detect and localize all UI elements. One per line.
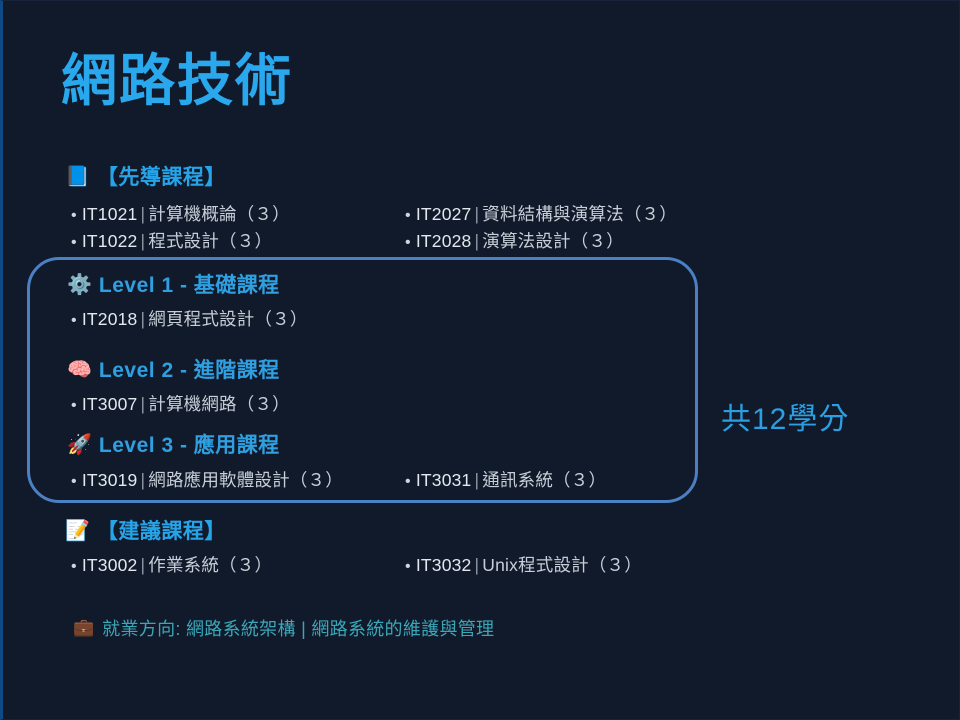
course-item: •IT3019|網路應用軟體設計（３） <box>71 467 343 492</box>
page-title: 網路技術 <box>61 49 293 113</box>
course-item: •IT3031|通訊系統（３） <box>405 467 606 492</box>
bullet-icon: • <box>405 558 411 575</box>
course-name: 資料結構與演算法（３） <box>482 204 677 224</box>
course-item: •IT3032|Unix程式設計（３） <box>405 552 642 577</box>
course-item: •IT2028|演算法設計（３） <box>405 228 624 253</box>
bullet-icon: • <box>71 473 77 490</box>
section-label-preliminary: 【先導課程】 <box>97 161 226 191</box>
course-code: IT3019 <box>82 470 138 490</box>
bullet-icon: • <box>405 234 411 251</box>
course-name: 計算機網路（３） <box>148 394 290 414</box>
bullet-icon: • <box>71 397 77 414</box>
course-code: IT3002 <box>82 555 138 575</box>
course-separator: | <box>472 204 483 224</box>
course-name: 網路應用軟體設計（３） <box>148 470 343 490</box>
course-separator: | <box>138 204 149 224</box>
blue-book-icon: 📘 <box>65 166 90 186</box>
section-label-recommended: 【建議課程】 <box>97 515 226 545</box>
section-header-recommended: 📝 【建議課程】 <box>65 515 226 545</box>
course-name: 網頁程式設計（３） <box>148 309 307 329</box>
course-separator: | <box>138 470 149 490</box>
section-header-level-1: ⚙️ Level 1 - 基礎課程 <box>67 269 280 299</box>
course-separator: | <box>472 231 483 251</box>
bullet-icon: • <box>71 207 77 224</box>
course-separator: | <box>472 470 483 490</box>
section-header-level-3: 🚀 Level 3 - 應用課程 <box>67 429 280 459</box>
course-code: IT2018 <box>82 309 138 329</box>
bullet-icon: • <box>71 234 77 251</box>
course-item: •IT3007|計算機網路（３） <box>71 391 290 416</box>
slide-canvas: 網路技術 📘 【先導課程】 •IT1021|計算機概論（３） •IT1022|程… <box>0 0 960 720</box>
memo-icon: 📝 <box>65 520 90 540</box>
total-credits-label: 共12學分 <box>721 394 849 438</box>
section-header-level-2: 🧠 Level 2 - 進階課程 <box>67 354 280 384</box>
course-code: IT1021 <box>82 204 138 224</box>
course-item: •IT2018|網頁程式設計（３） <box>71 306 308 331</box>
course-item: •IT1022|程式設計（３） <box>71 228 272 253</box>
career-direction: 💼 就業方向: 網路系統架構 | 網路系統的維護與管理 <box>73 615 494 641</box>
course-code: IT1022 <box>82 231 138 251</box>
section-label-level-3: Level 3 - 應用課程 <box>99 429 280 459</box>
rocket-icon: 🚀 <box>67 434 92 454</box>
course-name: 計算機概論（３） <box>148 204 290 224</box>
course-name: 通訊系統（３） <box>482 470 606 490</box>
section-label-level-2: Level 2 - 進階課程 <box>99 354 280 384</box>
bullet-icon: • <box>405 473 411 490</box>
bullet-icon: • <box>71 558 77 575</box>
course-separator: | <box>138 309 149 329</box>
course-name: 作業系統（３） <box>148 555 272 575</box>
briefcase-icon: 💼 <box>73 620 94 637</box>
course-name: 演算法設計（３） <box>482 231 624 251</box>
course-code: IT3007 <box>82 394 138 414</box>
section-label-level-1: Level 1 - 基礎課程 <box>99 269 280 299</box>
career-direction-text: 就業方向: 網路系統架構 | 網路系統的維護與管理 <box>102 615 494 641</box>
course-separator: | <box>138 394 149 414</box>
course-item: •IT3002|作業系統（３） <box>71 552 272 577</box>
course-separator: | <box>472 555 483 575</box>
course-name: Unix程式設計（３） <box>482 555 642 575</box>
course-name: 程式設計（３） <box>148 231 272 251</box>
course-code: IT2028 <box>416 231 472 251</box>
course-code: IT2027 <box>416 204 472 224</box>
course-item: •IT2027|資料結構與演算法（３） <box>405 201 677 226</box>
brain-icon: 🧠 <box>67 359 92 379</box>
section-header-preliminary: 📘 【先導課程】 <box>65 161 226 191</box>
course-separator: | <box>138 555 149 575</box>
course-code: IT3032 <box>416 555 472 575</box>
course-item: •IT1021|計算機概論（３） <box>71 201 290 226</box>
course-code: IT3031 <box>416 470 472 490</box>
course-separator: | <box>138 231 149 251</box>
bullet-icon: • <box>405 207 411 224</box>
bullet-icon: • <box>71 312 77 329</box>
gear-icon: ⚙️ <box>67 274 92 294</box>
